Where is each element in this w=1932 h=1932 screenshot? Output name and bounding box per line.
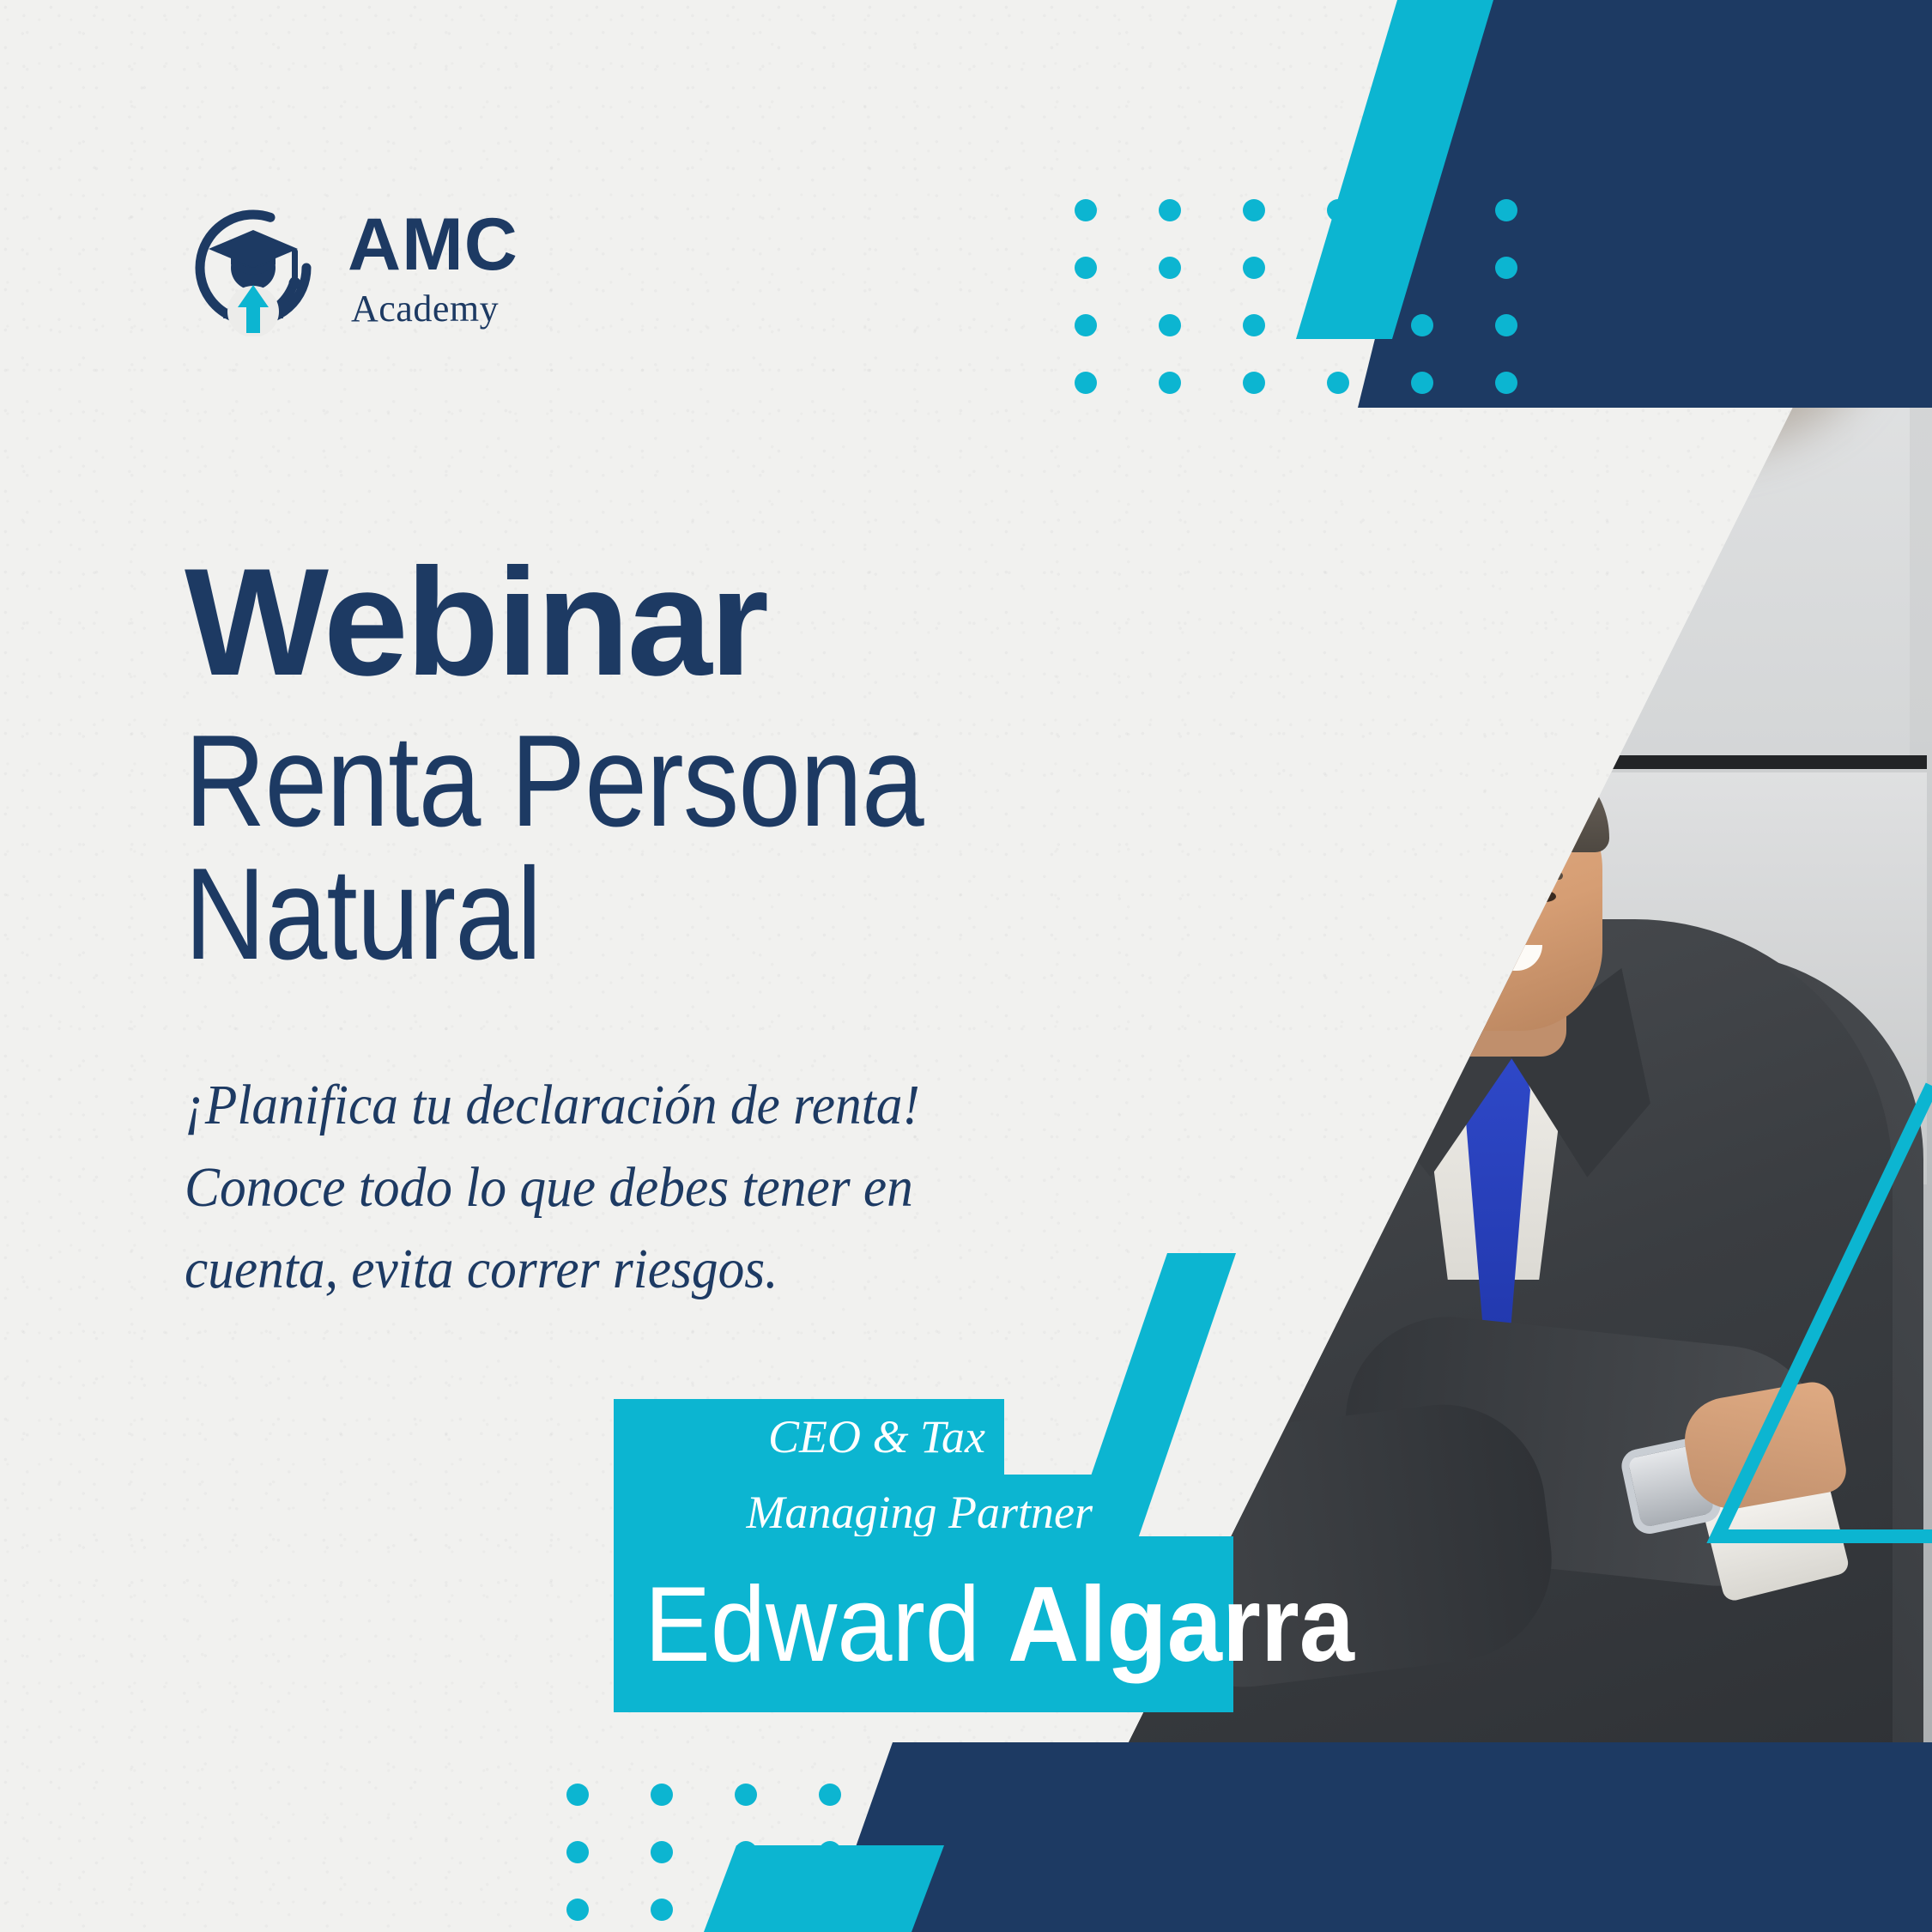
decor-dot [1327, 372, 1349, 394]
speaker-last-name: Algarra [1008, 1566, 1354, 1684]
decor-dot [1243, 372, 1265, 394]
speaker-role-line-1: CEO & Tax [614, 1399, 1004, 1475]
face [1405, 773, 1602, 1031]
speaker-name-bar: Edward Algarra [614, 1536, 1233, 1712]
decor-dot [566, 1899, 589, 1921]
decor-dot [735, 1784, 757, 1806]
decor-dot [651, 1899, 673, 1921]
eye-right [1534, 891, 1556, 902]
decor-dot [651, 1841, 673, 1863]
webinar-promo-poster: AMC Academy Webinar Renta Persona Natura… [0, 0, 1932, 1932]
decor-dot [1495, 314, 1517, 336]
brand-name: AMC [348, 208, 518, 282]
decor-dot [1495, 372, 1517, 394]
brand-logo[interactable]: AMC Academy [185, 199, 518, 336]
decor-dot [1075, 314, 1097, 336]
page-title-eyebrow: Webinar [185, 549, 1197, 696]
decor-dot [1495, 257, 1517, 279]
decor-dot [1159, 314, 1181, 336]
eye-left [1444, 891, 1467, 902]
decor-dot [819, 1784, 841, 1806]
decor-dot [1159, 372, 1181, 394]
speaker-name: Edward Algarra [645, 1572, 1354, 1678]
dot-grid-top [1075, 199, 1579, 429]
page-title-line-1: Renta Persona [185, 715, 1056, 848]
tagline-block: ¡Planifica tu declaración de renta! Cono… [185, 1064, 983, 1311]
brand-subname: Academy [351, 290, 518, 328]
decor-dot [1243, 257, 1265, 279]
hair [1398, 751, 1609, 852]
page-title-line-2: Natural [185, 848, 1056, 981]
decor-dot [566, 1784, 589, 1806]
speaker-first-name: Edward [645, 1566, 980, 1684]
decor-dot [1075, 199, 1097, 221]
decor-dot [1159, 199, 1181, 221]
decor-dot [1075, 257, 1097, 279]
speaker-role-block: CEO & Tax Managing Partner [614, 1399, 1111, 1550]
navy-bottom-shape [826, 1742, 1932, 1932]
decor-dot [651, 1784, 673, 1806]
tagline-line-1: ¡Planifica tu declaración de renta! [185, 1064, 983, 1147]
eyebrow-right [1525, 872, 1563, 880]
headline-block: Webinar Renta Persona Natural [185, 549, 1197, 981]
decor-dot [1495, 199, 1517, 221]
decor-dot [1075, 372, 1097, 394]
decor-dot [566, 1841, 589, 1863]
decor-dot [1327, 199, 1349, 221]
name-space [980, 1566, 1008, 1684]
decor-dot [1243, 199, 1265, 221]
decor-dot [1411, 314, 1433, 336]
tagline-line-2: Conoce todo lo que debes tener en [185, 1147, 983, 1229]
decor-dot [1243, 314, 1265, 336]
brand-logo-wordmark: AMC Academy [348, 208, 518, 328]
eyebrow-left [1438, 872, 1475, 880]
decor-dot [1411, 372, 1433, 394]
tagline-line-3: cuenta, evita correr riesgos. [185, 1228, 983, 1311]
cyan-bottom-shape [704, 1845, 944, 1932]
graduation-cap-circle-icon [185, 199, 322, 336]
decor-dot [1159, 257, 1181, 279]
